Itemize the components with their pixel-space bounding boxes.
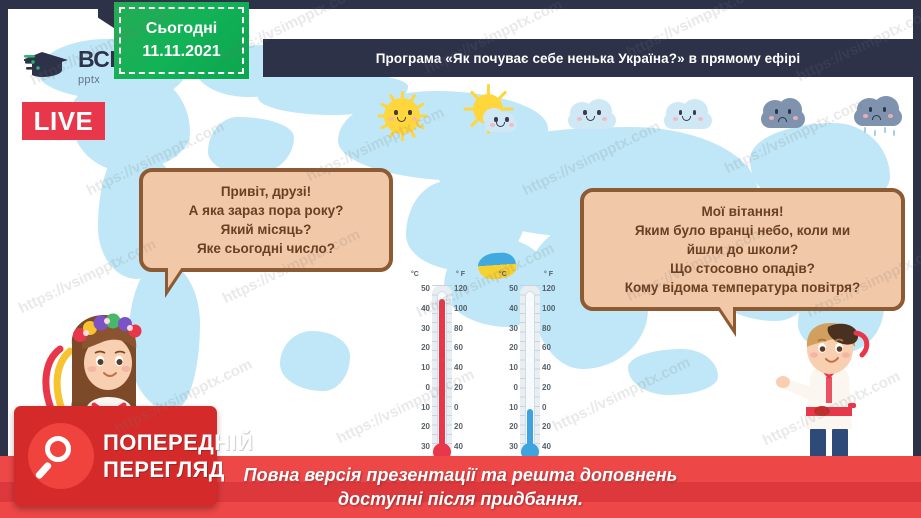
- bubble-left-line-4: Яке сьогодні число?: [157, 239, 375, 258]
- thermo-2-fahrenheit-scale: 120 100 80 60 40 20 0 20 40: [542, 285, 564, 451]
- dark-cloud-icon: [751, 88, 815, 142]
- tick: 40: [408, 305, 430, 313]
- thermometer-celsius-blue: °C ° F 50 40 30 20 10 0 10 20 30 120 100…: [496, 271, 568, 461]
- tick: 40: [454, 443, 476, 451]
- tick: 30: [496, 325, 518, 333]
- tick: 20: [408, 344, 430, 352]
- tick: 100: [454, 305, 476, 313]
- tick: 50: [408, 285, 430, 293]
- magnifier-icon: [28, 423, 94, 489]
- live-label: LIVE: [34, 106, 94, 137]
- thermo-1-unit-celsius: °C: [411, 271, 419, 278]
- preview-label-line-2: ПЕРЕГЛЯД: [103, 459, 253, 481]
- bubble-right-line-2: Яким було вранці небо, коли ми: [598, 221, 887, 240]
- bubble-right-tail-inner: [719, 306, 733, 327]
- thermo-2-celsius-scale: 50 40 30 20 10 0 10 20 30: [496, 285, 518, 451]
- tick: 10: [408, 364, 430, 372]
- tick: 30: [408, 325, 430, 333]
- bubble-right-line-3: йшли до школи?: [598, 240, 887, 259]
- tick: 30: [408, 443, 430, 451]
- today-date: 11.11.2021: [142, 43, 220, 61]
- bubble-right-line-5: Кому відома температура повітря?: [598, 278, 887, 297]
- tick: 10: [496, 364, 518, 372]
- tick: 0: [496, 384, 518, 392]
- thermo-1-fill: [439, 299, 445, 453]
- banner-line-2: доступні після придбання.: [338, 487, 583, 511]
- bubble-left-line-2: А яка зараз пора року?: [157, 201, 375, 220]
- today-date-badge: Сьогодні 11.11.2021: [114, 2, 249, 79]
- tick: 50: [496, 285, 518, 293]
- tick: 20: [542, 384, 564, 392]
- tick: 40: [454, 364, 476, 372]
- sun-behind-cloud-icon: [465, 88, 529, 142]
- banner-line-1: Повна версія презентації та решта доповн…: [244, 463, 678, 487]
- tick: 10: [496, 404, 518, 412]
- tick: 120: [454, 285, 476, 293]
- tick: 0: [542, 404, 564, 412]
- tick: 40: [542, 443, 564, 451]
- tick: 100: [542, 305, 564, 313]
- thermo-1-fahrenheit-scale: 120 100 80 60 40 20 0 20 40: [454, 285, 476, 451]
- speech-bubble-left: Привіт, друзі! А яка зараз пора року? Як…: [139, 168, 393, 272]
- bubble-right-line-1: Мої вітання!: [598, 202, 887, 221]
- bubble-left-line-1: Привіт, друзі!: [157, 182, 375, 201]
- ukrainian-boy-character: [776, 321, 886, 471]
- thermo-2-unit-celsius: °C: [499, 271, 507, 278]
- tick: 20: [496, 344, 518, 352]
- thermometer-celsius-red: °C ° F 50 40 30 20 10 0 10 20 30 120 100…: [408, 271, 480, 461]
- tick: 80: [542, 325, 564, 333]
- cloud-icon: [560, 88, 624, 142]
- live-badge: LIVE: [22, 102, 105, 140]
- tick: 80: [454, 325, 476, 333]
- thermo-2-unit-fahrenheit: ° F: [544, 271, 553, 278]
- thermo-1-unit-fahrenheit: ° F: [456, 271, 465, 278]
- tick: 20: [408, 423, 430, 431]
- tick: 60: [542, 344, 564, 352]
- programme-title: Програма «Як почуває себе ненька Україна…: [376, 51, 801, 66]
- weather-icon-strip: [370, 87, 910, 143]
- tick: 20: [496, 423, 518, 431]
- tick: 30: [496, 443, 518, 451]
- tick: 40: [496, 305, 518, 313]
- tick: 10: [408, 404, 430, 412]
- today-label: Сьогодні: [146, 20, 217, 38]
- tick: 0: [408, 384, 430, 392]
- tick: 20: [542, 423, 564, 431]
- bubble-right-line-4: Що стосовно опадів?: [598, 259, 887, 278]
- tick: 120: [542, 285, 564, 293]
- cloud-icon: [656, 88, 720, 142]
- graduation-cap-icon: [24, 48, 72, 87]
- preview-badge[interactable]: ПОПЕРЕДНІЙ ПЕРЕГЛЯД: [14, 406, 217, 506]
- preview-label-line-1: ПОПЕРЕДНІЙ: [103, 432, 253, 454]
- logo-brand-suffix: pptx: [78, 74, 100, 86]
- tick: 0: [454, 404, 476, 412]
- rain-cloud-icon: [846, 88, 910, 142]
- sun-icon: [370, 88, 434, 142]
- tick: 20: [454, 384, 476, 392]
- tick: 60: [454, 344, 476, 352]
- programme-title-bar: Програма «Як почуває себе ненька Україна…: [263, 39, 913, 77]
- bubble-left-tail-inner: [168, 267, 182, 288]
- tick: 20: [454, 423, 476, 431]
- bubble-left-line-3: Який місяць?: [157, 220, 375, 239]
- tick: 40: [542, 364, 564, 372]
- presentation-slide: Програма «Як почуває себе ненька Україна…: [0, 0, 921, 518]
- thermo-1-celsius-scale: 50 40 30 20 10 0 10 20 30: [408, 285, 430, 451]
- speech-bubble-right: Мої вітання! Яким було вранці небо, коли…: [580, 188, 905, 311]
